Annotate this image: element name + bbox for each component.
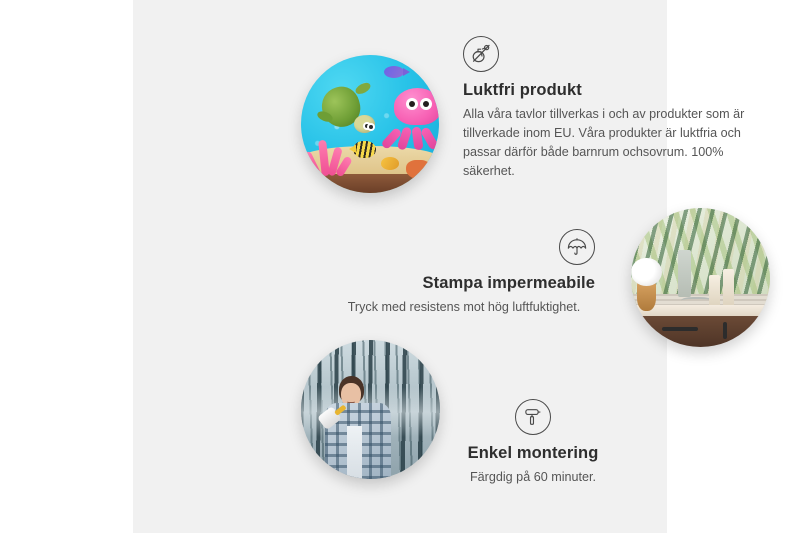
octopus-head [394,88,440,125]
wooden-vanity-cabinet [631,316,770,347]
umbrella-icon [559,229,595,265]
coral-icon [307,135,354,176]
feature-title: Stampa impermeabile [333,274,595,294]
feature-block-easy-installation: Enkel montering Färgdig på 60 minuter. [433,399,633,487]
turtle-eye-right [369,125,373,129]
painter-woman [323,376,395,479]
fish-orange-icon [381,157,399,169]
feature-description: Tryck med resistens mot hög luftfuktighe… [333,298,595,317]
toiletry-bottle [709,275,720,308]
white-flowers [631,258,662,286]
photo-painter-forest-wallpaper [301,340,440,479]
woman-inner-shirt [347,426,362,479]
octopus-tentacle [420,127,439,151]
photo-bathroom-tropical-wallpaper [631,208,770,347]
photo-underwater-kids-mural [301,55,439,193]
starfish-icon [406,160,431,179]
roller-handle [334,404,346,415]
feature-block-waterproof: Stampa impermeabile Tryck med resistens … [333,229,595,317]
feature-description: Alla våra tavlor tillverkas i och av pro… [463,105,761,182]
feature-description: Färgdig på 60 minuter. [433,468,633,487]
feature-block-odourless: Luktfri produkt Alla våra tavlor tillver… [463,36,761,181]
infographic-screen: Luktfri produkt Alla våra tavlor tillver… [0,0,800,533]
turtle-icon [320,83,372,135]
octopus-eye-right [420,98,432,110]
bathroom-scene [631,208,770,347]
feature-title: Luktfri produkt [463,81,761,101]
turtle-flipper-rear [354,80,372,95]
toiletry-bottle [723,269,734,308]
mirror-panel [678,250,691,297]
no-fragrance-icon [463,36,499,72]
octopus-eye-left [406,98,418,110]
octopus-icon [384,88,439,151]
forest-scene [301,340,440,479]
underwater-scene [301,55,439,193]
feature-title: Enkel montering [433,444,633,464]
paint-roller-icon [515,399,551,435]
content-panel: Luktfri produkt Alla våra tavlor tillver… [133,0,667,533]
fish-yellow-icon [353,141,375,159]
turtle-head [354,115,375,133]
